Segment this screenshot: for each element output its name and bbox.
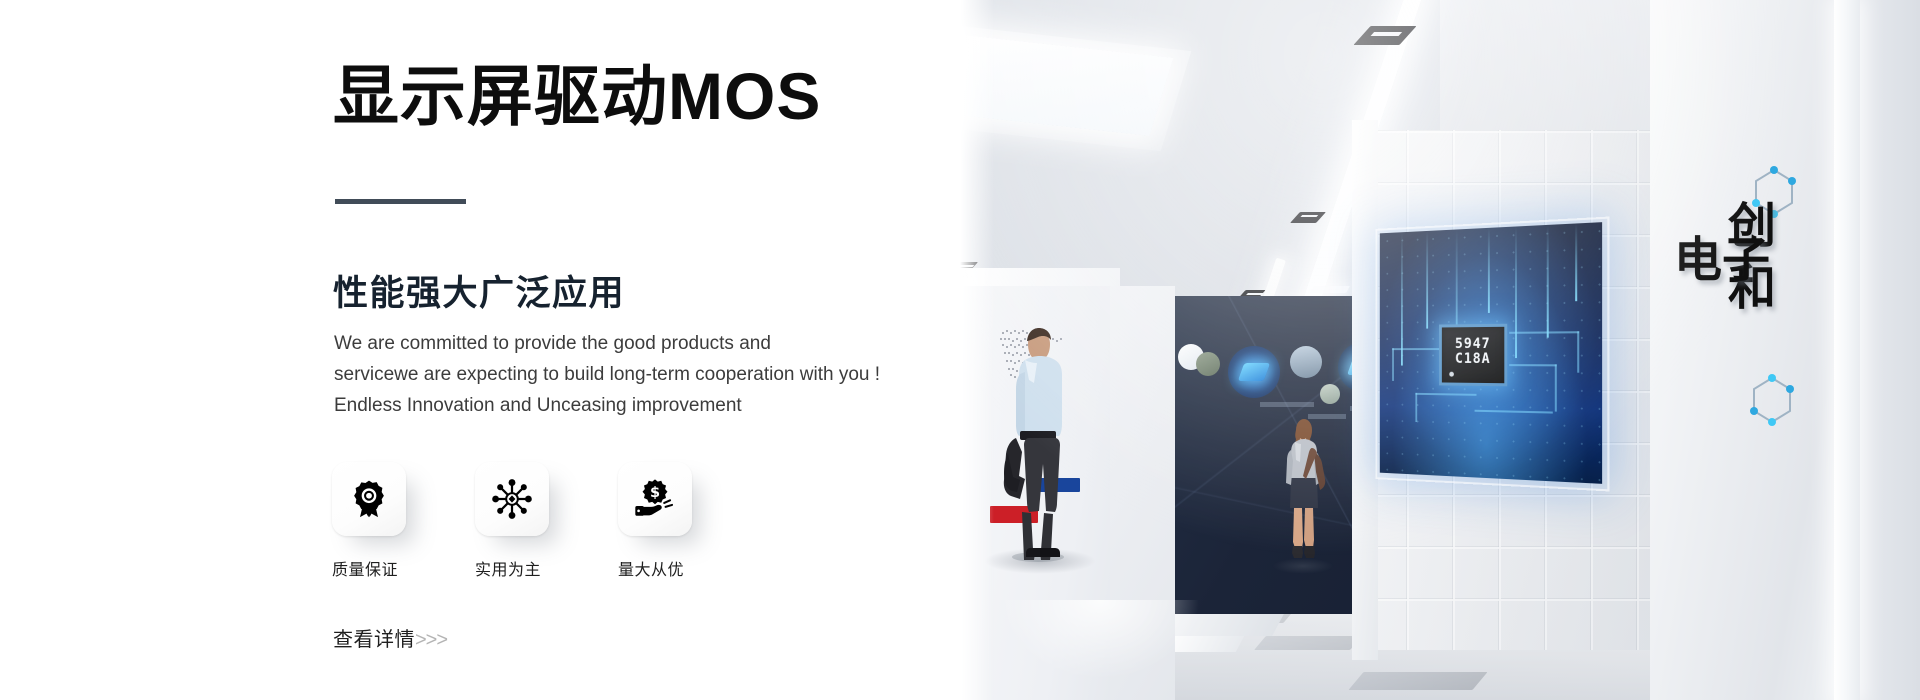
wall-photo-disc	[1290, 346, 1322, 378]
description-line-1: We are committed to provide the good pro…	[334, 328, 894, 359]
feature-label: 质量保证	[332, 556, 447, 580]
person-walking-woman	[1280, 418, 1326, 568]
product-banner: 显示屏驱动MOS 性能强大广泛应用 We are committed to pr…	[0, 0, 1920, 700]
description-line-2: servicewe are expecting to build long-te…	[334, 359, 894, 390]
ceiling-glow-panel	[1310, 286, 1350, 293]
hand-holding-coin-icon: $	[634, 478, 676, 520]
feature-item-quality[interactable]: 质量保证	[332, 462, 447, 580]
feature-item-practical[interactable]: 实用为主	[475, 462, 590, 580]
wall-photo-disc	[1196, 352, 1220, 376]
feature-icon-tile: $	[618, 462, 692, 536]
wall-photo-disc	[1320, 384, 1340, 404]
brand-wall-signage: 创和 电子	[1672, 196, 1812, 386]
showroom-photo: 5947C18A 创和 电子	[960, 0, 1920, 700]
page-title: 显示屏驱动MOS	[333, 58, 821, 136]
network-hub-icon	[491, 478, 533, 520]
tile-wall-edge-column	[1352, 120, 1378, 660]
molecule-hexagon-icon	[1744, 372, 1800, 428]
subtitle: 性能强大广泛应用	[333, 265, 625, 316]
brand-name-column-left: 电子	[1674, 230, 1770, 292]
far-wall	[1860, 0, 1920, 700]
banner-copy-panel: 显示屏驱动MOS 性能强大广泛应用 We are committed to pr…	[0, 0, 960, 700]
title-divider	[335, 199, 466, 204]
screen-bezel	[1376, 217, 1610, 492]
floor-highlight	[1000, 600, 1200, 680]
person-standing-man	[998, 326, 1074, 562]
left-wall-soffit	[960, 268, 1120, 286]
view-details-label: 查看详情	[333, 629, 415, 651]
wall-chip-disc	[1228, 346, 1280, 398]
description-line-3: Endless Innovation and Unceasing improve…	[334, 390, 894, 421]
feature-item-volume-discount[interactable]: $ 量大从优	[618, 462, 733, 580]
feature-label: 量大从优	[618, 556, 733, 580]
award-medal-icon	[348, 478, 390, 520]
pillar-light-edge	[1834, 0, 1860, 700]
feature-icon-tile	[475, 462, 549, 536]
wall-caption	[1260, 402, 1314, 407]
description-paragraph: We are committed to provide the good pro…	[334, 328, 894, 421]
svg-text:$: $	[650, 485, 660, 501]
feature-list: 质量保证	[332, 462, 733, 580]
feature-icon-tile	[332, 462, 406, 536]
view-details-link[interactable]: 查看详情>>>	[333, 623, 447, 652]
feature-label: 实用为主	[475, 556, 590, 580]
chevron-right-icon: >>>	[415, 629, 447, 651]
